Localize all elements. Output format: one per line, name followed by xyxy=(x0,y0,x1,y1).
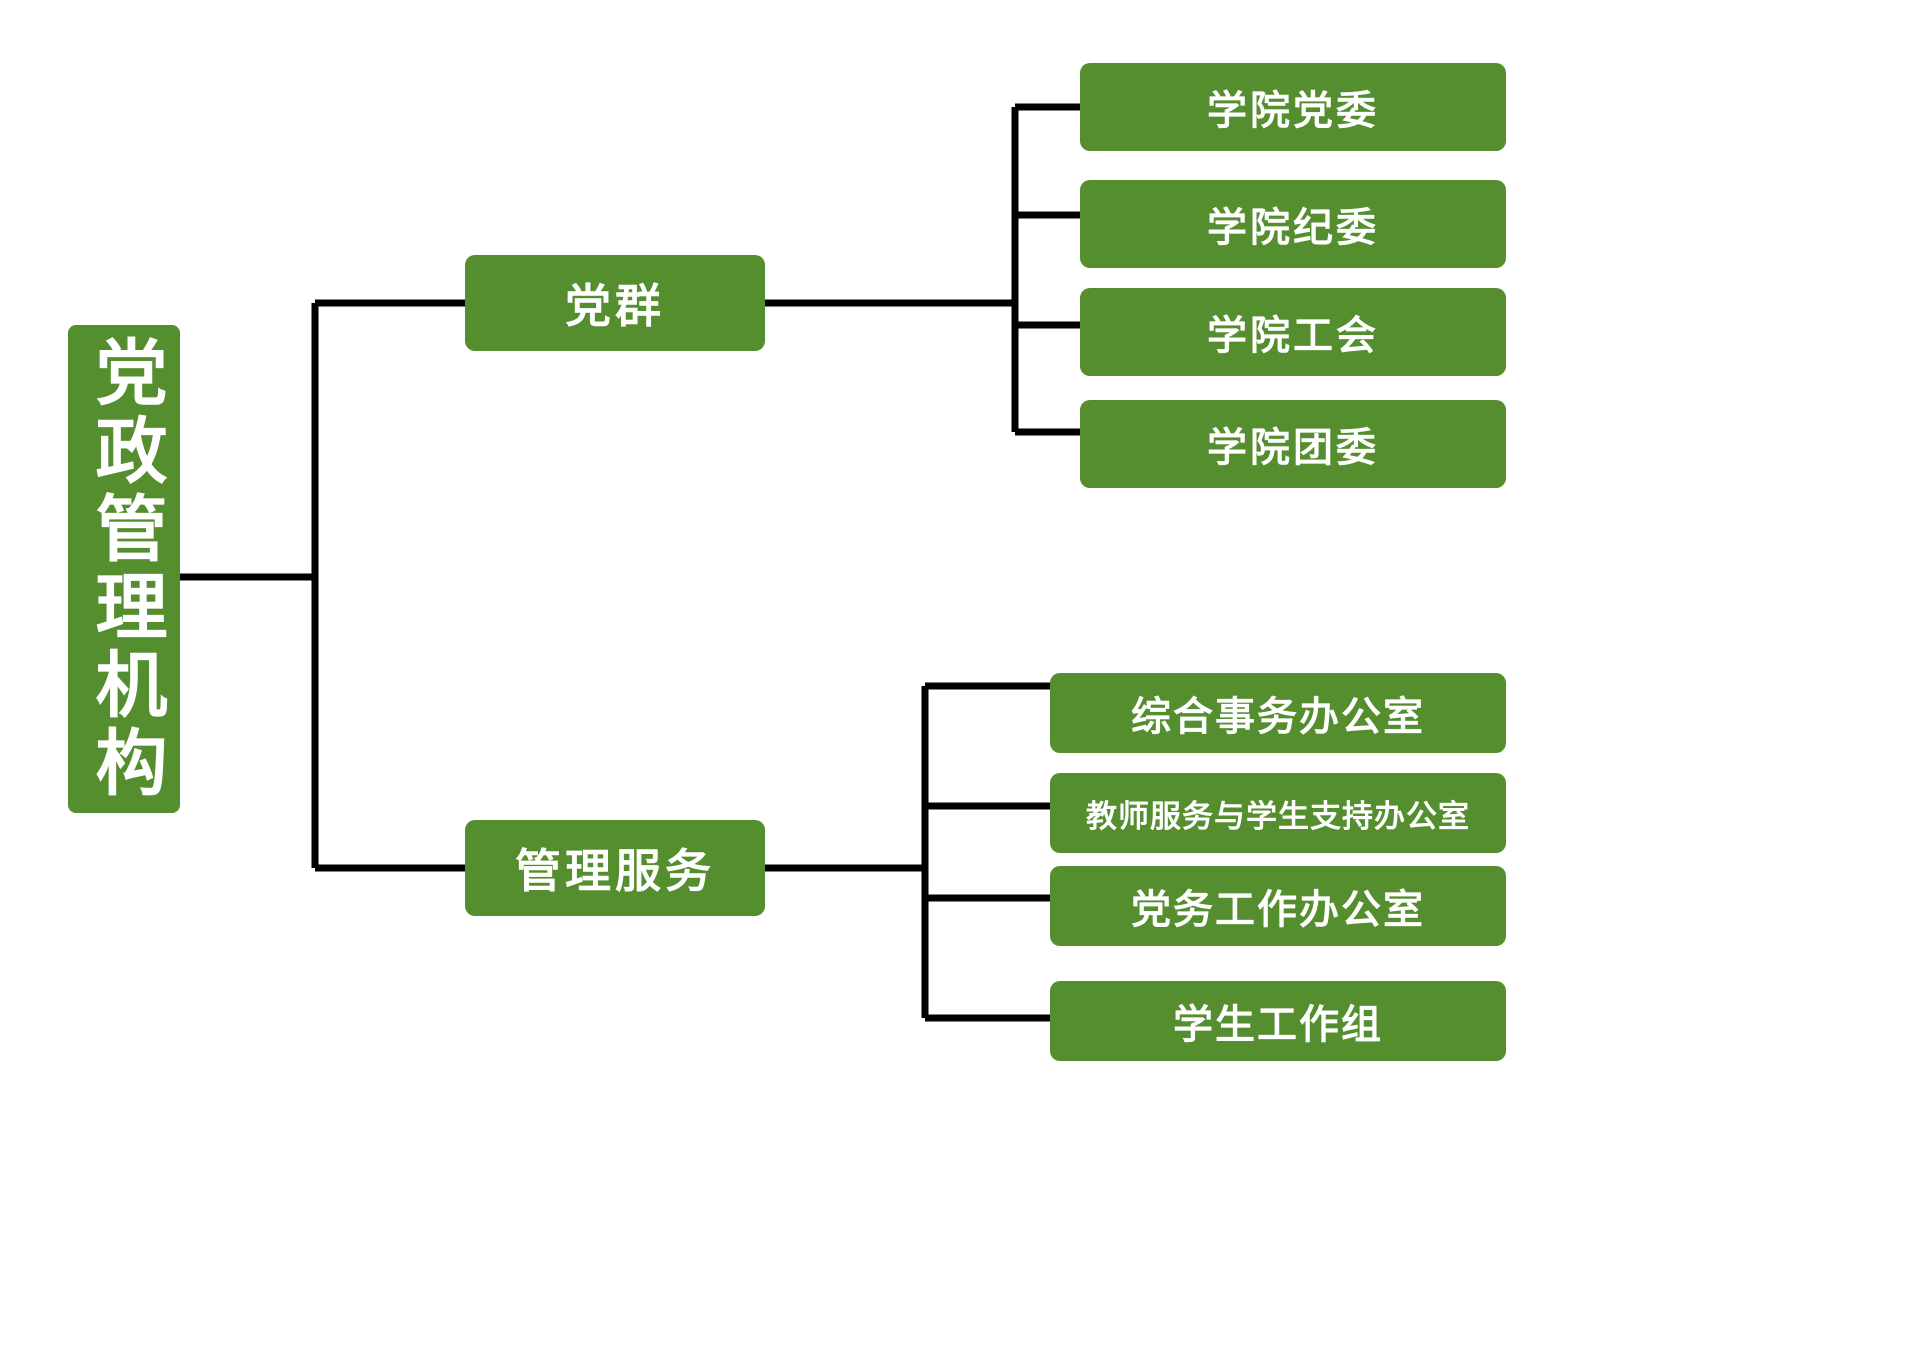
branch-node-dangqun[interactable]: 党群 xyxy=(465,255,765,351)
leaf-node-zonghe-shiwu-office[interactable]: 综合事务办公室 xyxy=(1050,673,1506,753)
leaf-node-dangwu-gongzuo-office[interactable]: 党务工作办公室 xyxy=(1050,866,1506,946)
leaf-node-jiaoshi-fuwu-xuesheng-zhichi-office[interactable]: 教师服务与学生支持办公室 xyxy=(1050,773,1506,853)
leaf-node-xueyuan-gonghui[interactable]: 学院工会 xyxy=(1080,288,1506,376)
root-node-party-admin[interactable]: 党政管理机构 xyxy=(68,325,180,813)
leaf-node-xueyuan-jiwei[interactable]: 学院纪委 xyxy=(1080,180,1506,268)
leaf-node-xueyuan-tuanwei[interactable]: 学院团委 xyxy=(1080,400,1506,488)
org-chart-canvas: 党政管理机构 党群 管理服务 学院党委 学院纪委 学院工会 学院团委 综合事务办… xyxy=(0,0,1914,1362)
connector-lines xyxy=(0,0,1914,1362)
leaf-node-xueyuan-dangwei[interactable]: 学院党委 xyxy=(1080,63,1506,151)
branch-node-guanli-fuwu[interactable]: 管理服务 xyxy=(465,820,765,916)
leaf-node-xuesheng-gongzuo-group[interactable]: 学生工作组 xyxy=(1050,981,1506,1061)
